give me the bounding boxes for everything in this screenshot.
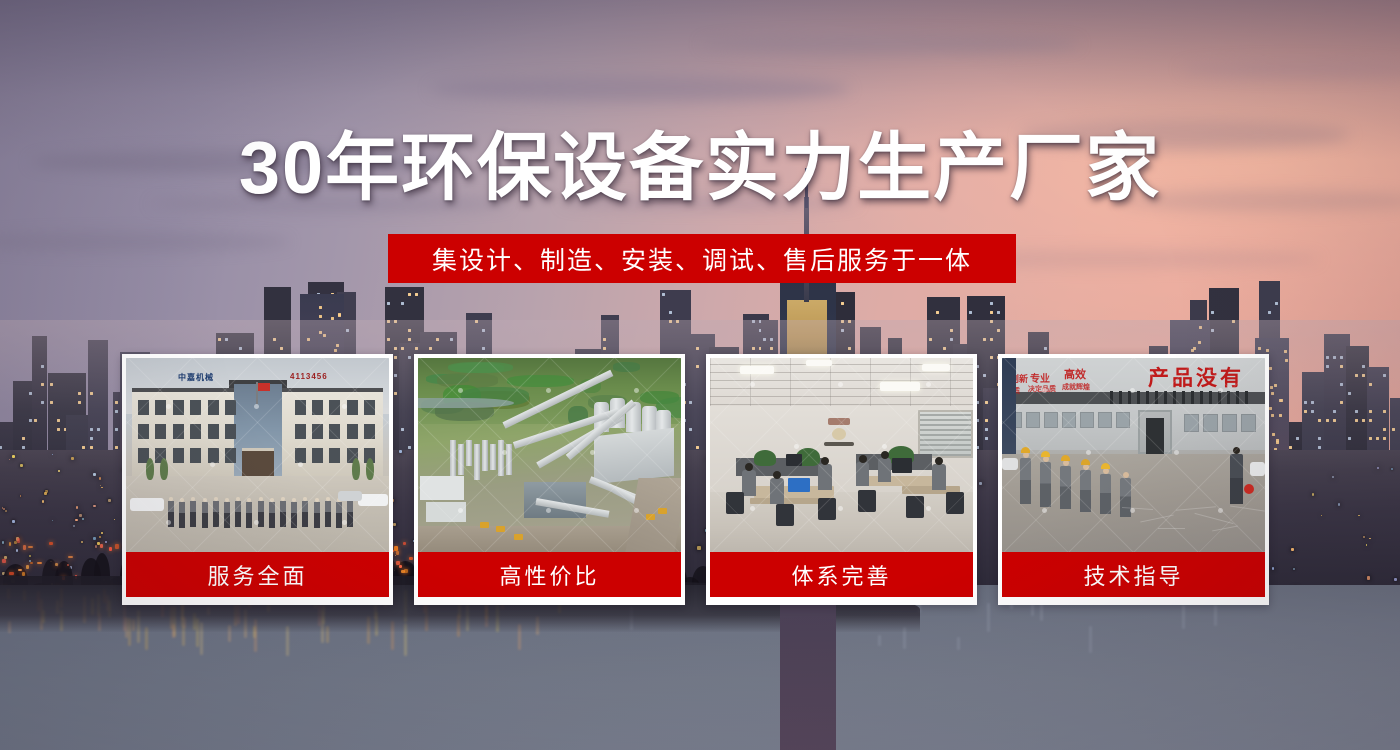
factory-shed (524, 482, 586, 518)
staff-person-head (214, 497, 218, 501)
wall-detail (1137, 391, 1140, 404)
factory-window (1116, 412, 1130, 428)
parked-car (1002, 458, 1018, 470)
card-caption: 高性价比 (418, 552, 681, 597)
factory-shed (420, 476, 464, 500)
wall-detail (1146, 391, 1149, 404)
building-window (208, 448, 219, 463)
factory-supervisor-head (1233, 447, 1240, 454)
office-chair (726, 492, 744, 514)
staff-person-head (326, 497, 330, 501)
building-window (208, 400, 219, 415)
red-hard-hat (1244, 484, 1254, 494)
watermark-dot (458, 508, 463, 513)
office-chair (946, 492, 964, 514)
feature-card[interactable]: 高性价比 (414, 354, 685, 605)
office-person-head (773, 471, 781, 479)
staff-person (314, 502, 320, 528)
building-window (173, 448, 184, 463)
building-window (173, 424, 184, 439)
staff-person-head (259, 497, 263, 501)
wall-decal (828, 418, 850, 425)
staff-person (213, 501, 219, 527)
factory-window (1044, 412, 1058, 428)
ceiling-line (710, 358, 711, 406)
card-caption-text: 体系完善 (791, 559, 891, 591)
ceiling-light (880, 382, 920, 391)
hard-hat (1101, 463, 1110, 469)
watermark-dot (1130, 508, 1135, 513)
watermark-dot (794, 444, 799, 449)
watermark-dot (1042, 388, 1047, 393)
excavator (496, 526, 505, 532)
parked-car (358, 494, 388, 506)
building-window (190, 424, 201, 439)
subtitle-banner: 集设计、制造、安装、调试、售后服务于一体 (388, 234, 1016, 283)
process-tower (506, 444, 512, 475)
factory-slogan-small: 专业 (1030, 370, 1050, 385)
feature-card[interactable]: 产品没有 创新专业高效品质决定品质成就辉煌 技术指导 (998, 354, 1269, 605)
feature-card[interactable]: 体系完善 (706, 354, 977, 605)
factory-window (1241, 414, 1256, 432)
office-chair (906, 496, 924, 518)
staff-person (291, 502, 297, 528)
watermark-dot (166, 404, 171, 409)
aerial-industrial-plant-photo (418, 358, 681, 552)
office-person-head (745, 463, 753, 471)
staff-person (280, 501, 286, 527)
building-window (138, 424, 149, 439)
wall-detail (1110, 391, 1113, 404)
staff-person-head (281, 497, 285, 501)
process-tower (482, 440, 488, 471)
computer-monitor (786, 454, 802, 466)
factory-worker (1040, 462, 1051, 507)
vegetation (613, 362, 640, 371)
office-person (770, 478, 784, 504)
building-window (329, 400, 340, 415)
wall-detail (1209, 391, 1212, 404)
card-caption-text: 高性价比 (499, 559, 599, 591)
office-person-head (821, 457, 829, 465)
window-blind (920, 419, 971, 421)
office-person (932, 464, 946, 490)
factory-window (1026, 412, 1040, 428)
hard-hat (1041, 451, 1050, 457)
building-window (312, 448, 323, 463)
window-blind (920, 439, 971, 441)
excavator (658, 508, 667, 514)
building-window (312, 424, 323, 439)
watermark-dot (750, 382, 755, 387)
office-person (878, 458, 891, 482)
feature-card[interactable]: 中嘉机械 4113456 服务全面 (122, 354, 393, 605)
ceiling-light (922, 364, 950, 371)
watermark-dot (590, 450, 595, 455)
staff-person (336, 502, 342, 528)
watermark-dot (298, 462, 303, 467)
factory-window (1098, 412, 1112, 428)
adjacent-building (1002, 358, 1016, 454)
vegetation (507, 375, 574, 387)
tree (160, 458, 168, 480)
wall-detail (1200, 391, 1203, 404)
staff-person (202, 502, 208, 528)
tree (352, 458, 360, 480)
computer-monitor (892, 458, 912, 473)
office-person (818, 464, 832, 490)
office-person (742, 470, 756, 496)
river (418, 398, 514, 408)
window-blind (920, 414, 971, 416)
staff-person (246, 502, 252, 528)
excavator (514, 534, 523, 540)
factory-worker (1080, 470, 1091, 512)
wall-decal (824, 442, 854, 446)
office-interior-staff-photo (710, 358, 973, 552)
building-window (225, 448, 236, 463)
factory-window (1184, 414, 1199, 432)
factory-window (1222, 414, 1237, 432)
office-person-head (935, 457, 943, 465)
excavator (646, 514, 655, 520)
watermark-dot (634, 388, 639, 393)
window-blind (920, 434, 971, 436)
factory-shed (594, 428, 674, 484)
building-window (295, 400, 306, 415)
vegetation (448, 362, 513, 373)
staff-person-head (169, 497, 173, 501)
building-window (225, 400, 236, 415)
watermark-dot (1174, 450, 1179, 455)
watermark-dot (1218, 388, 1223, 393)
page-title: 30年环保设备实力生产厂家 (0, 131, 1400, 205)
process-tower (450, 440, 456, 476)
factory-workers-training-photo: 产品没有 创新专业高效品质决定品质成就辉煌 (1002, 358, 1265, 552)
ceiling-light (806, 360, 832, 366)
watermark-dot (1042, 508, 1047, 513)
hard-hat (1061, 455, 1070, 461)
staff-person (347, 501, 353, 527)
staff-person (302, 501, 308, 527)
hero-banner: 30年环保设备实力生产厂家 集设计、制造、安装、调试、售后服务于一体 中嘉机械 … (0, 0, 1400, 750)
building-window (347, 424, 358, 439)
watermark-dot (342, 404, 347, 409)
tree (366, 458, 374, 480)
process-tower (458, 444, 464, 475)
card-caption: 服务全面 (126, 552, 389, 597)
parked-car (338, 491, 362, 501)
building-window (138, 400, 149, 415)
potted-plant (754, 450, 776, 466)
staff-person-head (203, 498, 207, 502)
building-window (364, 400, 375, 415)
window-blind (920, 429, 971, 431)
factory-worker (1020, 458, 1031, 504)
watermark-dot (1218, 508, 1223, 513)
watermark-dot (1130, 388, 1135, 393)
ceiling-line (950, 358, 951, 406)
wall-detail (1173, 391, 1176, 404)
building-window (364, 424, 375, 439)
parked-car (1250, 462, 1265, 476)
parked-car (130, 498, 164, 511)
office-building-staff-photo: 中嘉机械 4113456 (126, 358, 389, 552)
watermark-dot (838, 382, 843, 387)
factory-window (1080, 412, 1094, 428)
factory-window (1203, 414, 1218, 432)
building-window (295, 448, 306, 463)
watermark-dot (342, 520, 347, 525)
office-person-head (859, 455, 867, 463)
card-caption: 技术指导 (1002, 552, 1265, 597)
factory-supervisor (1230, 454, 1243, 504)
tree (146, 458, 154, 480)
wall-detail (1155, 391, 1158, 404)
building-window (155, 400, 166, 415)
office-chair (858, 490, 876, 512)
wall-detail (1227, 391, 1230, 404)
wall-detail (1236, 391, 1239, 404)
watermark-dot (750, 506, 755, 511)
ceiling-light (740, 366, 774, 374)
card-caption-text: 技术指导 (1083, 559, 1183, 591)
staff-person-head (225, 498, 229, 502)
window-blind (920, 424, 971, 426)
staff-person (190, 501, 196, 527)
hard-hat (1081, 459, 1090, 465)
ground-line (1158, 528, 1185, 529)
building-window (190, 448, 201, 463)
staff-person (224, 502, 230, 528)
watermark-dot (1086, 450, 1091, 455)
process-tower (474, 444, 480, 480)
wall-detail (1128, 391, 1131, 404)
building-window (225, 424, 236, 439)
building-window (329, 448, 340, 463)
staff-person-head (270, 498, 274, 502)
office-person (856, 462, 869, 486)
building-window (190, 400, 201, 415)
staff-person (269, 502, 275, 528)
building-window (329, 424, 340, 439)
building-phone-text: 4113456 (290, 372, 328, 381)
staff-person (179, 502, 185, 528)
watermark-dot (254, 520, 259, 525)
factory-slogan-text: 产品没有 (1148, 362, 1244, 392)
card-caption-text: 服务全面 (207, 559, 307, 591)
factory-slogan-small: 高效 (1064, 366, 1086, 382)
staff-person (235, 501, 241, 527)
wall-detail (1164, 391, 1167, 404)
building-window (208, 424, 219, 439)
watermark-dot (254, 404, 259, 409)
wall-detail (1191, 391, 1194, 404)
watermark-dot (502, 450, 507, 455)
wall-detail (1182, 391, 1185, 404)
process-tower (490, 444, 496, 470)
watermark-dot (882, 444, 887, 449)
watermark-dot (458, 388, 463, 393)
card-caption: 体系完善 (710, 552, 973, 597)
ceiling-line (790, 358, 791, 406)
factory-worker-head (1123, 472, 1129, 478)
hard-hat (1021, 447, 1030, 453)
watermark-dot (634, 508, 639, 513)
factory-slogan-small: 成就辉煌 (1062, 382, 1090, 392)
watermark-dot (926, 382, 931, 387)
office-person-head (881, 451, 889, 459)
process-tower (498, 440, 504, 476)
office-desk (864, 476, 940, 486)
building-window (347, 400, 358, 415)
building-window (173, 400, 184, 415)
wall-detail (1245, 391, 1248, 404)
factory-window (1062, 412, 1076, 428)
staff-person (325, 501, 331, 527)
watermark-dot (210, 462, 215, 467)
watermark-dot (166, 520, 171, 525)
feature-card-list: 中嘉机械 4113456 服务全面 高性价比 (122, 354, 1278, 605)
office-chair (818, 498, 836, 520)
factory-worker (1060, 466, 1071, 509)
process-tower (466, 440, 472, 466)
watermark-dot (546, 388, 551, 393)
building-window (295, 424, 306, 439)
building-sign-text: 中嘉机械 (178, 372, 214, 383)
window-blind (920, 449, 971, 451)
building-window (312, 400, 323, 415)
laptop (788, 478, 810, 492)
watermark-dot (546, 508, 551, 513)
wall-detail (1119, 391, 1122, 404)
window-blind (920, 444, 971, 446)
building-window (155, 424, 166, 439)
office-chair (776, 504, 794, 526)
flag (258, 383, 270, 391)
excavator (480, 522, 489, 528)
ceiling-line (870, 358, 871, 406)
subtitle-text: 集设计、制造、安装、调试、售后服务于一体 (432, 241, 972, 277)
watermark-dot (926, 506, 931, 511)
factory-worker (1100, 474, 1111, 514)
watermark-dot (838, 506, 843, 511)
staff-person-head (315, 498, 319, 502)
wall-decal (832, 428, 846, 440)
